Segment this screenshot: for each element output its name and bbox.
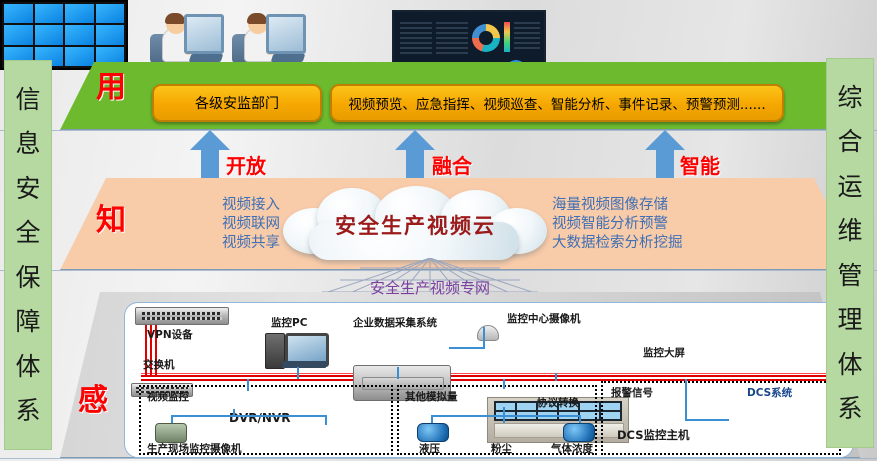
dash-matrix <box>514 22 540 52</box>
analog-drop-3 <box>579 415 581 423</box>
site-cameras-label: 生产现场监控摄像机 <box>147 441 242 456</box>
banner-right-char-1: 合 <box>837 129 862 154</box>
analog-drop-1 <box>431 415 433 423</box>
conv-down <box>503 407 505 415</box>
arrow-fuse <box>395 130 435 182</box>
ptz-camera-icon <box>155 423 187 443</box>
dcs-uplink <box>685 379 687 421</box>
cloud-right-items: 海量视频图像存储 视频智能分析预警 大数据检索分析挖掘 <box>552 196 782 253</box>
monitor-pc-label: 监控PC <box>271 315 307 330</box>
arrow-label-open: 开放 <box>226 150 266 179</box>
diagram-canvas: 用 各级安监部门 视频预览、应急指挥、视频巡查、智能分析、事件记录、预警预测..… <box>0 0 877 461</box>
dept-button[interactable]: 各级安监部门 <box>152 84 322 122</box>
dvr-drop-2 <box>233 409 235 415</box>
banner-ops-management: 综 合 运 维 管 理 体 系 <box>826 58 874 448</box>
infrastructure-panel: VPN设备 交换机 监控PC 企业数据采集系统 监控中心摄像机 监控大屏 <box>124 302 854 458</box>
arrow-head <box>395 130 435 150</box>
arrow-label-fuse: 融合 <box>432 150 472 179</box>
group-dcs-title: 报警信号 <box>611 385 653 400</box>
vpn-device-label: VPN设备 <box>147 327 193 342</box>
gas-sensor-icon <box>563 423 595 442</box>
dash-donut <box>472 24 500 52</box>
arrow-smart <box>645 130 685 182</box>
slab-divider-bottom <box>0 458 877 459</box>
arrow-shaft <box>656 148 674 182</box>
dcs-link <box>685 419 729 421</box>
functions-button[interactable]: 视频预览、应急指挥、视频巡查、智能分析、事件记录、预警预测...... <box>330 84 784 122</box>
group-video-title: 视频监控 <box>147 389 189 404</box>
converter-label: 协议转换 <box>537 395 579 410</box>
keyboard-shape <box>271 54 306 62</box>
vpn-device-icon <box>135 307 229 325</box>
data-collect-link <box>449 347 485 349</box>
monitor-shape <box>184 14 224 54</box>
red-bus-1 <box>141 375 831 377</box>
cloud-title: 安全生产视频云 <box>283 210 548 240</box>
opcenter-wire <box>555 373 557 381</box>
banner-right-char-4: 管 <box>837 263 862 288</box>
sensor-label-gas: 气体浓度 <box>551 441 593 456</box>
dvr-uplink <box>247 379 249 391</box>
dome-camera-icon <box>477 325 499 341</box>
banner-left-char-5: 障 <box>15 309 40 334</box>
center-camera-label: 监控中心摄像机 <box>507 311 581 326</box>
banner-right-char-7: 系 <box>837 396 862 421</box>
pc-wire <box>297 367 299 379</box>
operator-clipart-2 <box>232 6 306 64</box>
cloud-left-items: 视频接入 视频联网 视频共享 <box>130 196 280 253</box>
arrow-shaft <box>406 148 424 182</box>
monitor-shape <box>266 14 306 54</box>
data-collect-wire <box>397 367 399 379</box>
layer-tag-use: 用 <box>96 62 126 106</box>
banner-left-char-6: 体 <box>15 354 40 379</box>
arrow-open <box>190 130 230 182</box>
dash-table-1 <box>400 22 432 56</box>
cloud-shape: 安全生产视频云 <box>283 186 548 262</box>
dcs-system-label: DCS系统 <box>747 385 792 400</box>
arrow-shaft <box>201 148 219 182</box>
banner-left-char-4: 保 <box>15 265 40 290</box>
red-bus-3 <box>141 373 831 374</box>
banner-left-char-0: 信 <box>15 87 40 112</box>
banner-right-char-0: 综 <box>837 85 862 110</box>
hair-shape <box>247 13 267 24</box>
network-label: 安全生产视频专网 <box>300 277 560 298</box>
analog-drop-2 <box>503 415 505 423</box>
arrow-label-smart: 智能 <box>680 150 720 179</box>
dash-spectrum <box>504 22 510 52</box>
dcs-host-label: DCS监控主机 <box>617 427 689 443</box>
banner-right-char-5: 理 <box>837 307 862 332</box>
arrow-head <box>190 130 230 150</box>
conv-uplink <box>503 379 505 389</box>
switch-label: 交换机 <box>143 357 175 372</box>
hydraulic-sensor-icon <box>417 423 449 442</box>
group-analog-title: 其他模拟量 <box>405 389 458 404</box>
camera-wire-2 <box>483 347 485 349</box>
sensor-label-dust: 粉尘 <box>491 441 512 456</box>
banner-right-char-2: 运 <box>837 174 862 199</box>
camera-wire <box>483 327 485 349</box>
dash-table-2 <box>436 22 468 56</box>
keyboard-shape <box>189 54 224 62</box>
pc-keyboard-icon <box>282 361 329 368</box>
banner-info-security: 信 息 安 全 保 障 体 系 <box>4 60 52 450</box>
dvr-label: DVR/NVR <box>229 411 290 425</box>
analog-bus <box>431 415 581 417</box>
operator-clipart-1 <box>150 6 224 64</box>
sensor-label-hydraulic: 液压 <box>419 441 440 456</box>
banner-left-char-1: 息 <box>15 131 40 156</box>
arrow-head <box>645 130 685 150</box>
slab-divider-top <box>0 130 877 131</box>
hair-shape <box>165 13 185 24</box>
layer-tag-know: 知 <box>96 195 126 239</box>
layer-tag-sense: 感 <box>78 375 108 419</box>
data-collect-label: 企业数据采集系统 <box>353 315 437 330</box>
banner-right-char-3: 维 <box>837 218 862 243</box>
dvr-bus <box>171 415 327 417</box>
banner-left-char-3: 全 <box>15 220 40 245</box>
banner-right-char-6: 体 <box>837 352 862 377</box>
banner-left-char-7: 系 <box>15 398 40 423</box>
dvr-drop-3 <box>325 415 327 425</box>
banner-left-char-2: 安 <box>15 176 40 201</box>
big-screen-label: 监控大屏 <box>643 345 685 360</box>
